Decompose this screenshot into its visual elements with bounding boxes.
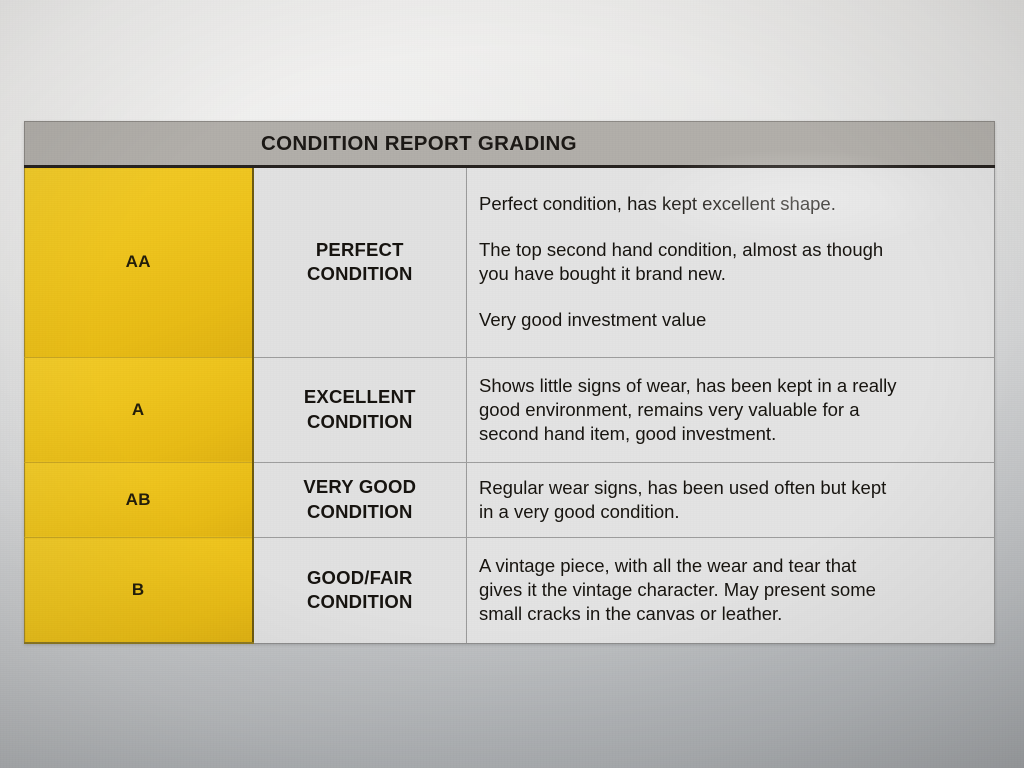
- description-line: good environment, remains very valuable …: [479, 398, 980, 422]
- grade-badge-ab: AB: [25, 462, 253, 538]
- description-line: in a very good condition.: [479, 500, 980, 524]
- description-line: Shows little signs of wear, has been kep…: [479, 374, 980, 398]
- condition-label-line-1: GOOD/FAIR: [260, 566, 461, 591]
- table-title-cell: CONDITION REPORT GRADING: [25, 122, 995, 167]
- photographed-document: CONDITION REPORT GRADING AA PERFECT COND…: [0, 0, 1024, 768]
- grade-badge-aa: AA: [25, 167, 253, 358]
- description-line: second hand item, good investment.: [479, 422, 980, 446]
- condition-label-aa: PERFECT CONDITION: [253, 167, 467, 358]
- description-line: The top second hand condition, almost as…: [479, 238, 980, 262]
- condition-label-b: GOOD/FAIR CONDITION: [253, 538, 467, 643]
- description-paragraph: A vintage piece, with all the wear and t…: [479, 554, 980, 626]
- table-title-row: CONDITION REPORT GRADING: [25, 122, 995, 167]
- table-row: A EXCELLENT CONDITION Shows little signs…: [25, 357, 995, 462]
- description-paragraph: Very good investment value: [479, 308, 980, 332]
- description-line: Regular wear signs, has been used often …: [479, 476, 980, 500]
- condition-label-line-2: CONDITION: [260, 262, 461, 287]
- description-line: small cracks in the canvas or leather.: [479, 602, 980, 626]
- description-line: A vintage piece, with all the wear and t…: [479, 554, 980, 578]
- description-paragraph: Regular wear signs, has been used often …: [479, 476, 980, 524]
- grade-badge-a: A: [25, 357, 253, 462]
- description-aa: Perfect condition, has kept excellent sh…: [467, 167, 995, 358]
- condition-grading-table: CONDITION REPORT GRADING AA PERFECT COND…: [24, 121, 995, 644]
- description-ab: Regular wear signs, has been used often …: [467, 462, 995, 538]
- description-line: Very good investment value: [479, 308, 980, 332]
- page-title: CONDITION REPORT GRADING: [25, 132, 994, 156]
- condition-label-ab: VERY GOOD CONDITION: [253, 462, 467, 538]
- description-a: Shows little signs of wear, has been kep…: [467, 357, 995, 462]
- condition-label-line-1: PERFECT: [260, 238, 461, 263]
- table-row: AA PERFECT CONDITION Perfect condition, …: [25, 167, 995, 358]
- grade-badge-b: B: [25, 538, 253, 643]
- condition-label-line-1: EXCELLENT: [260, 385, 461, 410]
- condition-label-line-2: CONDITION: [260, 410, 461, 435]
- description-paragraph: The top second hand condition, almost as…: [479, 238, 980, 286]
- condition-label-a: EXCELLENT CONDITION: [253, 357, 467, 462]
- description-paragraph: Shows little signs of wear, has been kep…: [479, 374, 980, 446]
- description-b: A vintage piece, with all the wear and t…: [467, 538, 995, 643]
- table-body: CONDITION REPORT GRADING AA PERFECT COND…: [25, 122, 995, 644]
- condition-label-line-2: CONDITION: [260, 500, 461, 525]
- table-row: B GOOD/FAIR CONDITION A vintage piece, w…: [25, 538, 995, 643]
- table-row: AB VERY GOOD CONDITION Regular wear sign…: [25, 462, 995, 538]
- description-line: gives it the vintage character. May pres…: [479, 578, 980, 602]
- description-line: you have bought it brand new.: [479, 262, 980, 286]
- description-paragraph: Perfect condition, has kept excellent sh…: [479, 192, 980, 216]
- condition-label-line-2: CONDITION: [260, 590, 461, 615]
- description-line: Perfect condition, has kept excellent sh…: [479, 192, 980, 216]
- condition-label-line-1: VERY GOOD: [260, 475, 461, 500]
